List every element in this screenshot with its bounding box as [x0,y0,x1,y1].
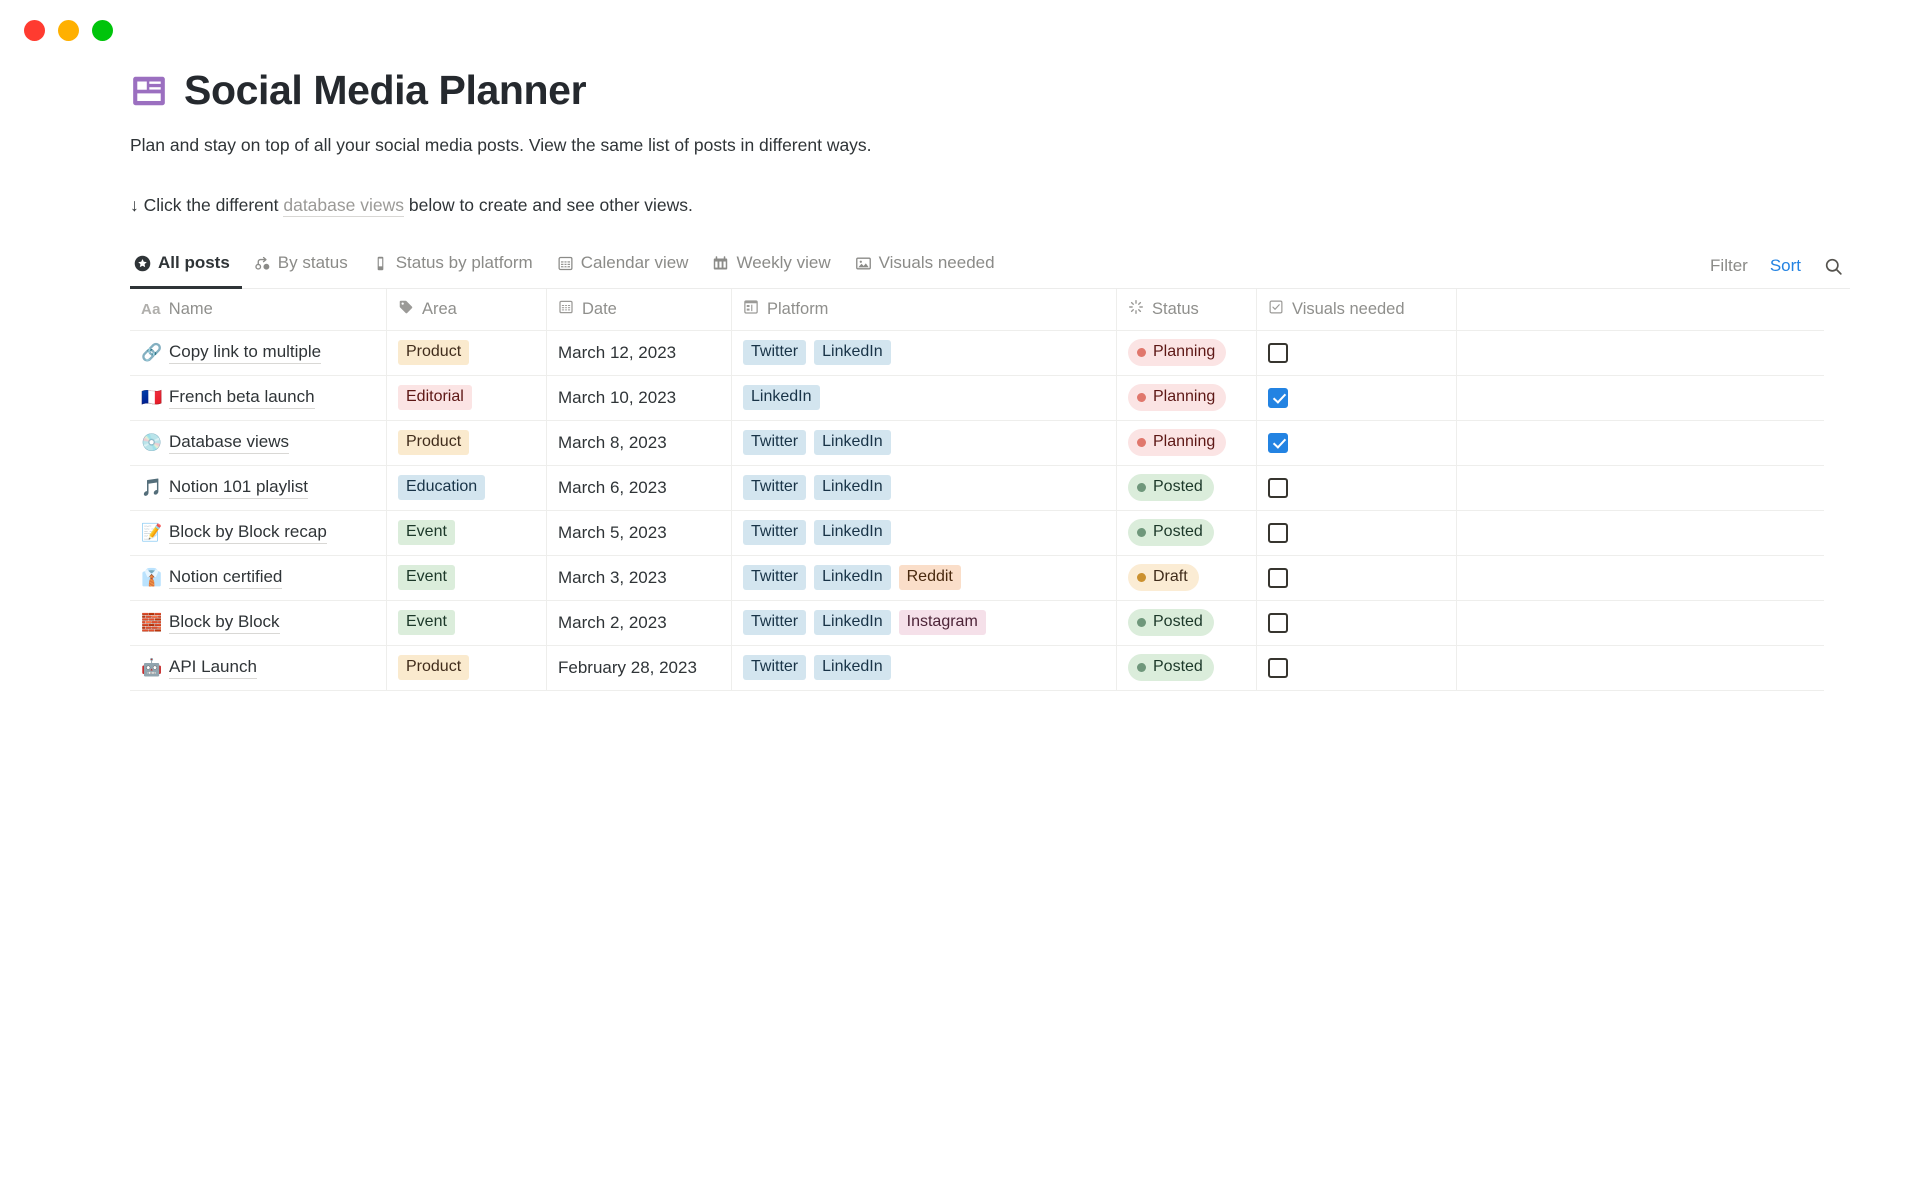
platform-tag: Twitter [743,565,806,590]
cell-date[interactable]: March 8, 2023 [547,421,732,465]
star-circle-icon [134,255,151,272]
status-badge: Posted [1128,474,1214,501]
status-badge: Planning [1128,429,1226,456]
table-row[interactable]: 👔 Notion certified Event March 3, 2023 T… [130,556,1824,601]
memo-emoji: 📝 [141,524,160,541]
row-title[interactable]: Notion 101 playlist [169,477,308,499]
cell-status[interactable]: Planning [1117,331,1257,375]
date-value: February 28, 2023 [558,658,697,678]
column-header-blank[interactable] [1457,289,1824,330]
area-tag: Event [398,610,455,635]
platform-tag: Instagram [899,610,986,635]
robot-emoji: 🤖 [141,659,160,676]
cell-date[interactable]: March 10, 2023 [547,376,732,420]
cell-platform[interactable]: TwitterLinkedIn [732,421,1117,465]
cell-platform[interactable]: TwitterLinkedIn [732,331,1117,375]
table-header-row: Aa Name Area Date Platform [130,289,1824,331]
cell-visuals-needed[interactable] [1257,511,1457,555]
link-emoji: 🔗 [141,344,160,361]
area-tag: Event [398,520,455,545]
area-tag: Product [398,340,469,365]
date-value: March 6, 2023 [558,478,667,498]
cell-date[interactable]: March 3, 2023 [547,556,732,600]
status-badge: Posted [1128,519,1214,546]
cell-status[interactable]: Posted [1117,646,1257,690]
area-tag: Education [398,475,485,500]
cell-name[interactable]: 💿 Database views [130,421,387,465]
table-row[interactable]: 🧱 Block by Block Event March 2, 2023 Twi… [130,601,1824,646]
cell-area[interactable]: Product [387,421,547,465]
table-row[interactable]: 🇫🇷 French beta launch Editorial March 10… [130,376,1824,421]
area-tag: Product [398,430,469,455]
status-badge: Draft [1128,564,1199,591]
platform-tag: LinkedIn [814,430,891,455]
row-title[interactable]: Database views [169,432,289,454]
platform-tag: LinkedIn [814,475,891,500]
view-actions: Filter Sort [1710,256,1850,288]
filter-button[interactable]: Filter [1710,256,1748,276]
cell-name[interactable]: 🤖 API Launch [130,646,387,690]
cell-blank[interactable] [1457,421,1824,465]
hint-suffix-text: below to create and see other views. [404,195,693,215]
page-icon[interactable] [130,72,168,110]
posts-table: Aa Name Area Date Platform [130,289,1824,691]
music-note-emoji: 🎵 [141,479,160,496]
cell-platform[interactable]: TwitterLinkedIn [732,646,1117,690]
minimize-window-button[interactable] [58,20,79,41]
status-dot-icon [1137,393,1146,402]
row-title[interactable]: Block by Block recap [169,522,327,544]
platform-tag: Twitter [743,610,806,635]
cell-blank[interactable] [1457,646,1824,690]
column-header-date[interactable]: Date [547,289,732,330]
visuals-needed-checkbox[interactable] [1268,478,1288,498]
cell-visuals-needed[interactable] [1257,601,1457,645]
page-hint: ↓ Click the different database views bel… [130,192,1850,218]
cell-name[interactable]: 🎵 Notion 101 playlist [130,466,387,510]
table-row[interactable]: 🎵 Notion 101 playlist Education March 6,… [130,466,1824,511]
gallery-icon [855,255,872,272]
cell-visuals-needed[interactable] [1257,466,1457,510]
cell-name[interactable]: 🔗 Copy link to multiple [130,331,387,375]
page-content: Social Media Planner Plan and stay on to… [0,70,1920,691]
platform-tag: LinkedIn [814,610,891,635]
column-header-area[interactable]: Area [387,289,547,330]
cell-area[interactable]: Product [387,646,547,690]
visuals-needed-checkbox[interactable] [1268,388,1288,408]
platform-tag: LinkedIn [743,385,820,410]
cell-date[interactable]: February 28, 2023 [547,646,732,690]
cell-blank[interactable] [1457,376,1824,420]
cell-platform[interactable]: TwitterLinkedInInstagram [732,601,1117,645]
cell-name[interactable]: 🧱 Block by Block [130,601,387,645]
visuals-needed-checkbox[interactable] [1268,523,1288,543]
page-description: Plan and stay on top of all your social … [130,132,1850,158]
cell-status[interactable]: Planning [1117,421,1257,465]
status-badge: Posted [1128,609,1214,636]
table-row[interactable]: 🤖 API Launch Product February 28, 2023 T… [130,646,1824,691]
cell-visuals-needed[interactable] [1257,421,1457,465]
calendar-icon [558,299,574,320]
cell-visuals-needed[interactable] [1257,556,1457,600]
date-value: March 5, 2023 [558,523,667,543]
status-badge: Posted [1128,654,1214,681]
cell-area[interactable]: Event [387,601,547,645]
status-dot-icon [1137,573,1146,582]
tab-label: Visuals needed [879,253,995,273]
cell-status[interactable]: Posted [1117,466,1257,510]
tab-visuals-needed[interactable]: Visuals needed [843,248,1007,288]
tab-status-by-platform[interactable]: Status by platform [360,248,545,288]
row-title[interactable]: API Launch [169,657,257,679]
cell-visuals-needed[interactable] [1257,376,1457,420]
visuals-needed-checkbox[interactable] [1268,433,1288,453]
cell-platform[interactable]: LinkedIn [732,376,1117,420]
platform-tag: LinkedIn [814,340,891,365]
page-header: Social Media Planner [130,70,1850,111]
column-label: Date [582,300,617,319]
platform-tag: Twitter [743,520,806,545]
status-badge: Planning [1128,339,1226,366]
row-title[interactable]: French beta launch [169,387,315,409]
cell-area[interactable]: Event [387,556,547,600]
platform-tag: LinkedIn [814,565,891,590]
status-dot-icon [1137,483,1146,492]
table-row[interactable]: 🔗 Copy link to multiple Product March 12… [130,331,1824,376]
row-title[interactable]: Block by Block [169,612,280,634]
row-title[interactable]: Copy link to multiple [169,342,321,364]
cell-status[interactable]: Planning [1117,376,1257,420]
column-header-name[interactable]: Aa Name [130,289,387,330]
brick-emoji: 🧱 [141,614,160,631]
platform-tag: LinkedIn [814,520,891,545]
visuals-needed-checkbox[interactable] [1268,613,1288,633]
status-dot-icon [1137,438,1146,447]
platform-tag: Twitter [743,340,806,365]
cell-status[interactable]: Posted [1117,511,1257,555]
tab-label: Status by platform [396,253,533,273]
platform-tag: LinkedIn [814,655,891,680]
area-tag: Product [398,655,469,680]
cell-platform[interactable]: TwitterLinkedInReddit [732,556,1117,600]
column-header-platform[interactable]: Platform [732,289,1117,330]
column-label: Name [169,300,213,319]
cell-visuals-needed[interactable] [1257,331,1457,375]
platform-tag: Twitter [743,475,806,500]
column-label: Platform [767,300,828,319]
hint-prefix-text: ↓ Click the different [130,195,283,215]
necktie-emoji: 👔 [141,569,160,586]
tab-label: Calendar view [581,253,689,273]
cell-visuals-needed[interactable] [1257,646,1457,690]
status-dot-icon [1137,663,1146,672]
cell-date[interactable]: March 5, 2023 [547,511,732,555]
tab-label: Weekly view [736,253,830,273]
cell-area[interactable]: Product [387,331,547,375]
column-label: Visuals needed [1292,300,1405,319]
tab-calendar-view[interactable]: Calendar view [545,248,701,288]
visuals-needed-checkbox[interactable] [1268,343,1288,363]
table-row[interactable]: 📝 Block by Block recap Event March 5, 20… [130,511,1824,556]
status-badge: Planning [1128,384,1226,411]
date-value: March 10, 2023 [558,388,676,408]
platform-tag: Twitter [743,430,806,455]
cell-status[interactable]: Draft [1117,556,1257,600]
tab-label: All posts [158,253,230,273]
date-value: March 12, 2023 [558,343,676,363]
board-icon [372,255,389,272]
cell-name[interactable]: 👔 Notion certified [130,556,387,600]
date-value: March 2, 2023 [558,613,667,633]
column-label: Area [422,300,457,319]
cell-area[interactable]: Event [387,511,547,555]
table-body: 🔗 Copy link to multiple Product March 12… [130,331,1824,691]
cell-blank[interactable] [1457,466,1824,510]
maximize-window-button[interactable] [92,20,113,41]
column-label: Status [1152,300,1199,319]
area-tag: Editorial [398,385,472,410]
tab-label: By status [278,253,348,273]
cell-name[interactable]: 🇫🇷 French beta launch [130,376,387,420]
status-dot-icon [1137,618,1146,627]
visuals-needed-checkbox[interactable] [1268,568,1288,588]
tab-weekly-view[interactable]: Weekly view [700,248,842,288]
checkbox-icon [1268,299,1284,320]
multiselect-icon [743,299,759,320]
row-title[interactable]: Notion certified [169,567,282,589]
cell-platform[interactable]: TwitterLinkedIn [732,466,1117,510]
page-title: Social Media Planner [184,70,586,111]
column-header-visuals-needed[interactable]: Visuals needed [1257,289,1457,330]
status-spinner-icon [1128,299,1144,320]
cell-platform[interactable]: TwitterLinkedIn [732,511,1117,555]
timeline-icon [712,255,729,272]
window-titlebar [0,0,1920,60]
table-row[interactable]: 💿 Database views Product March 8, 2023 T… [130,421,1824,466]
cell-name[interactable]: 📝 Block by Block recap [130,511,387,555]
group-board-icon [254,255,271,272]
optical-disk-emoji: 💿 [141,434,160,451]
sort-button[interactable]: Sort [1770,256,1801,276]
cell-date[interactable]: March 2, 2023 [547,601,732,645]
area-tag: Event [398,565,455,590]
database-view-bar: All posts By status Status by platform [130,248,1850,289]
search-icon[interactable] [1823,256,1844,277]
cell-area[interactable]: Education [387,466,547,510]
cell-blank[interactable] [1457,556,1824,600]
visuals-needed-checkbox[interactable] [1268,658,1288,678]
cell-status[interactable]: Posted [1117,601,1257,645]
date-value: March 8, 2023 [558,433,667,453]
platform-tag: Twitter [743,655,806,680]
france-flag-emoji: 🇫🇷 [141,389,160,406]
date-value: March 3, 2023 [558,568,667,588]
view-tabs: All posts By status Status by platform [130,248,1007,288]
calendar-icon [557,255,574,272]
status-dot-icon [1137,348,1146,357]
tab-by-status[interactable]: By status [242,248,360,288]
cell-blank[interactable] [1457,511,1824,555]
tab-all-posts[interactable]: All posts [130,248,242,288]
cell-area[interactable]: Editorial [387,376,547,420]
database-views-link[interactable]: database views [283,195,404,217]
platform-tag: Reddit [899,565,961,590]
cell-date[interactable]: March 6, 2023 [547,466,732,510]
tag-icon [398,299,414,320]
cell-blank[interactable] [1457,601,1824,645]
text-aa-icon: Aa [141,301,161,318]
close-window-button[interactable] [24,20,45,41]
cell-blank[interactable] [1457,331,1824,375]
column-header-status[interactable]: Status [1117,289,1257,330]
status-dot-icon [1137,528,1146,537]
cell-date[interactable]: March 12, 2023 [547,331,732,375]
